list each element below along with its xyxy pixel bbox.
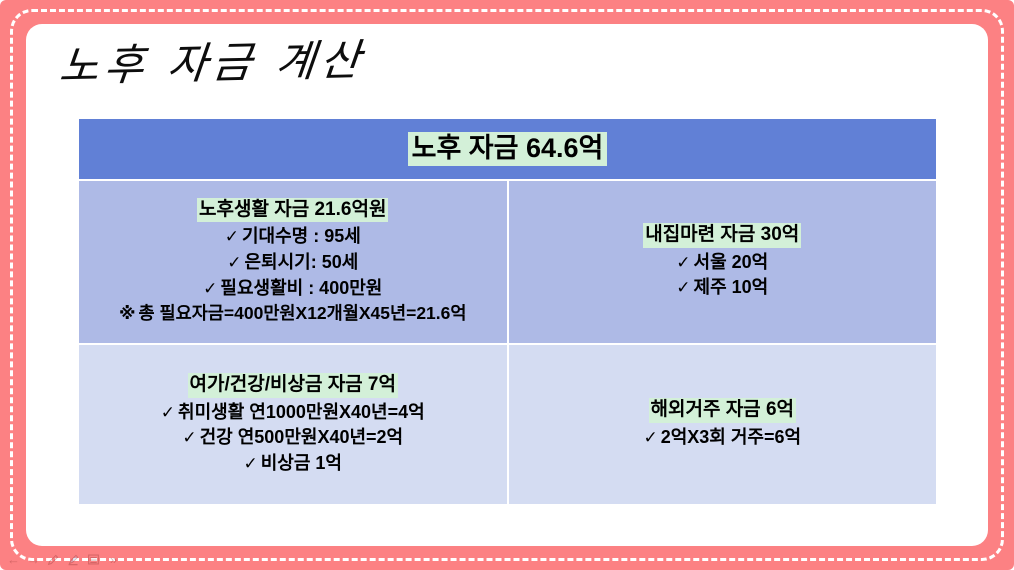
cell-line-text: 기대수명 : 95세 [242,226,361,246]
table-header-row: 노후 자금 64.6억 [78,118,937,180]
highlighter-icon[interactable] [66,552,81,567]
arrow-right-icon[interactable]: → [26,552,41,567]
arrow-left-icon[interactable]: ← [6,552,21,567]
cell-line: ✓서울 20억 [515,250,931,276]
table-header-cell-total: 노후 자금 64.6억 [78,118,937,180]
cell-line-text: 취미생활 연1000만원X40년=4억 [178,402,425,422]
cell-line-text: 서울 20억 [694,252,769,272]
cell-title-overseas-residence: 해외거주 자금 6억 [649,398,797,423]
cell-leisure-health-emergency-inner: 여가/건강/비상금 자금 7억 ✓취미생활 연1000만원X40년=4억 ✓건강… [79,373,507,476]
cell-home-fund-inner: 내집마련 자금 30억 ✓서울 20억 ✓제주 10억 [509,223,937,301]
cell-line: ✓2억X3회 거주=6억 [515,425,931,451]
cell-living-fund-inner: 노후생활 자금 21.6억원 ✓기대수명 : 95세 ✓은퇴시기: 50세 ✓필… [79,198,507,327]
check-icon: ✓ [203,279,220,298]
reference-mark-icon: ※ [119,304,139,323]
cell-line-text: 2억X3회 거주=6억 [661,427,801,447]
presentation-toolbar[interactable]: ← → » [6,552,121,567]
cell-line: ✓제주 10억 [515,275,931,301]
slide-card: 노후 자금 계산 노후 자금 64.6억 노후생활 자금 21.6억원 ✓기대수… [26,24,988,546]
cell-living-fund: 노후생활 자금 21.6억원 ✓기대수명 : 95세 ✓은퇴시기: 50세 ✓필… [78,180,508,344]
cell-line-text: 총 필요자금=400만원X12개월X45년=21.6억 [139,303,467,323]
check-icon: ✓ [243,454,260,473]
cell-home-fund: 내집마련 자금 30억 ✓서울 20억 ✓제주 10억 [508,180,938,344]
cell-line-text: 은퇴시기: 50세 [244,252,358,272]
cell-overseas-residence-inner: 해외거주 자금 6억 ✓2억X3회 거주=6억 [509,398,937,450]
cell-title-home-fund: 내집마련 자금 30억 [643,223,801,248]
cell-line-text: 필요생활비 : 400만원 [220,278,382,298]
cell-title-living-fund: 노후생활 자금 21.6억원 [197,198,388,223]
check-icon: ✓ [182,428,199,447]
page-title: 노후 자금 계산 [57,26,369,94]
cell-line-text: 건강 연500만원X40년=2억 [200,427,404,447]
more-options-icon[interactable]: » [106,552,121,567]
cell-leisure-health-emergency-fund: 여가/건강/비상금 자금 7억 ✓취미생활 연1000만원X40년=4억 ✓건강… [78,344,508,505]
check-icon: ✓ [643,428,660,447]
check-icon: ✓ [225,227,242,246]
cell-line: ✓취미생활 연1000만원X40년=4억 [85,400,501,426]
retirement-fund-table: 노후 자금 64.6억 노후생활 자금 21.6억원 ✓기대수명 : 95세 ✓… [78,118,937,505]
pen-icon[interactable] [46,552,61,567]
table-row: 여가/건강/비상금 자금 7억 ✓취미생활 연1000만원X40년=4억 ✓건강… [78,344,937,505]
cell-line: ✓기대수명 : 95세 [85,224,501,250]
table-head: 노후 자금 64.6억 [78,118,937,180]
table-body: 노후생활 자금 21.6억원 ✓기대수명 : 95세 ✓은퇴시기: 50세 ✓필… [78,180,937,505]
cell-line-text: 비상금 1억 [261,453,342,473]
cell-line: ✓은퇴시기: 50세 [85,250,501,276]
cell-line: ✓건강 연500만원X40년=2억 [85,425,501,451]
slide-frame: 노후 자금 계산 노후 자금 64.6억 노후생활 자금 21.6억원 ✓기대수… [0,0,1014,570]
cell-line: ✓비상금 1억 [85,451,501,477]
cell-title-leisure-health-emergency: 여가/건강/비상금 자금 7억 [188,373,398,398]
cell-overseas-residence-fund: 해외거주 자금 6억 ✓2억X3회 거주=6억 [508,344,938,505]
total-fund-label: 노후 자금 64.6억 [408,132,608,167]
cell-line-note: ※총 필요자금=400만원X12개월X45년=21.6억 [85,301,501,326]
check-icon: ✓ [227,253,244,272]
cell-line-text: 제주 10억 [694,277,769,297]
table-row: 노후생활 자금 21.6억원 ✓기대수명 : 95세 ✓은퇴시기: 50세 ✓필… [78,180,937,344]
cell-line: ✓필요생활비 : 400만원 [85,276,501,302]
check-icon: ✓ [676,278,693,297]
check-icon: ✓ [676,253,693,272]
slides-grid-icon[interactable] [86,552,101,567]
check-icon: ✓ [161,403,178,422]
